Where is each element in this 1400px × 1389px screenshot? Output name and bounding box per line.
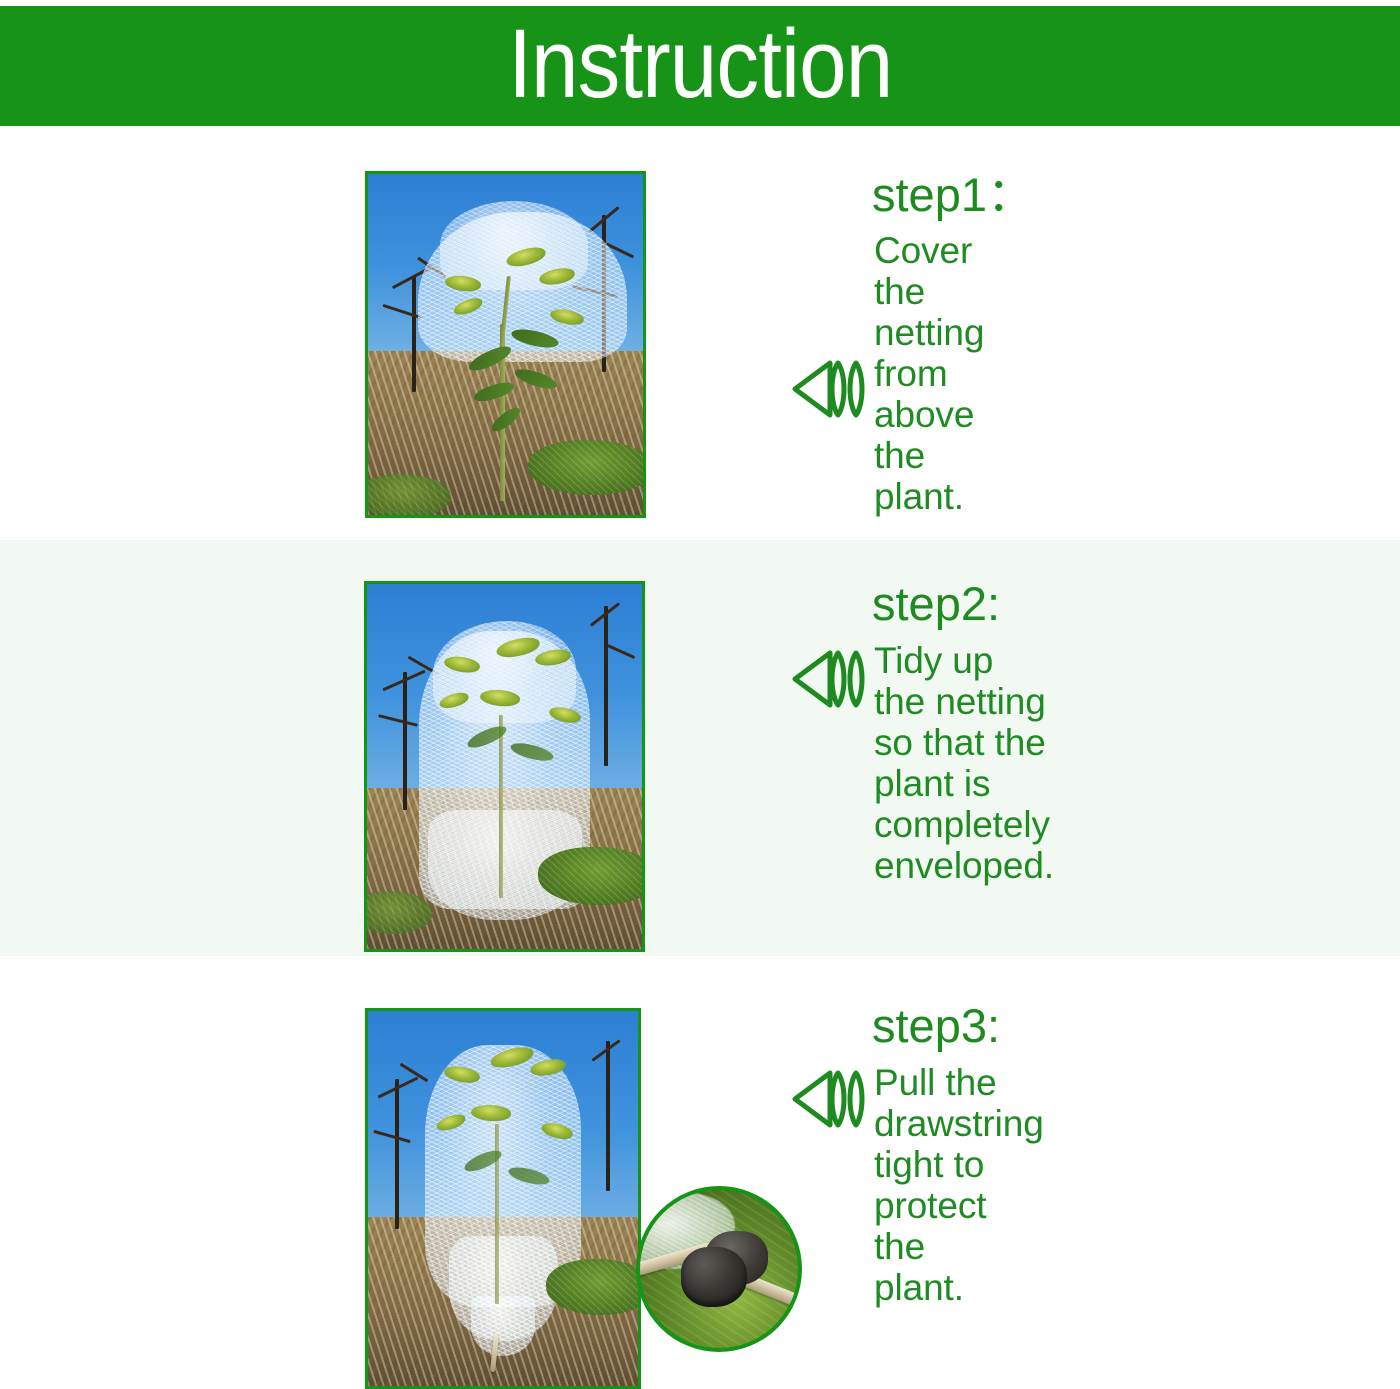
step-3-body: Pull the drawstring tight to protect the… [874,1062,1044,1308]
step-3-detail-inset [636,1186,802,1352]
step-1-label: step1： [872,171,1034,218]
step-1-body: Cover the netting from above the plant. [874,230,984,517]
step-row-2: step2: Tidy up the netting so that the p… [0,540,1400,956]
header-banner: Instruction [0,6,1400,126]
step-3-photo [365,1008,641,1389]
double-chevron-left-icon [790,648,868,710]
double-chevron-left-icon [790,1068,868,1130]
double-chevron-left-icon [790,358,868,420]
step-1-photo [365,171,646,518]
step-row-3: step3: Pull the drawstring tight to prot… [0,956,1400,1373]
step-2-body: Tidy up the netting so that the plant is… [874,640,1054,886]
step-3-label: step3: [872,1002,1000,1049]
step-2-photo [364,581,645,952]
page-title: Instruction [508,15,892,112]
step-2-label: step2: [872,580,1000,627]
step-row-1: step1： Cover the netting from above the … [0,126,1400,540]
